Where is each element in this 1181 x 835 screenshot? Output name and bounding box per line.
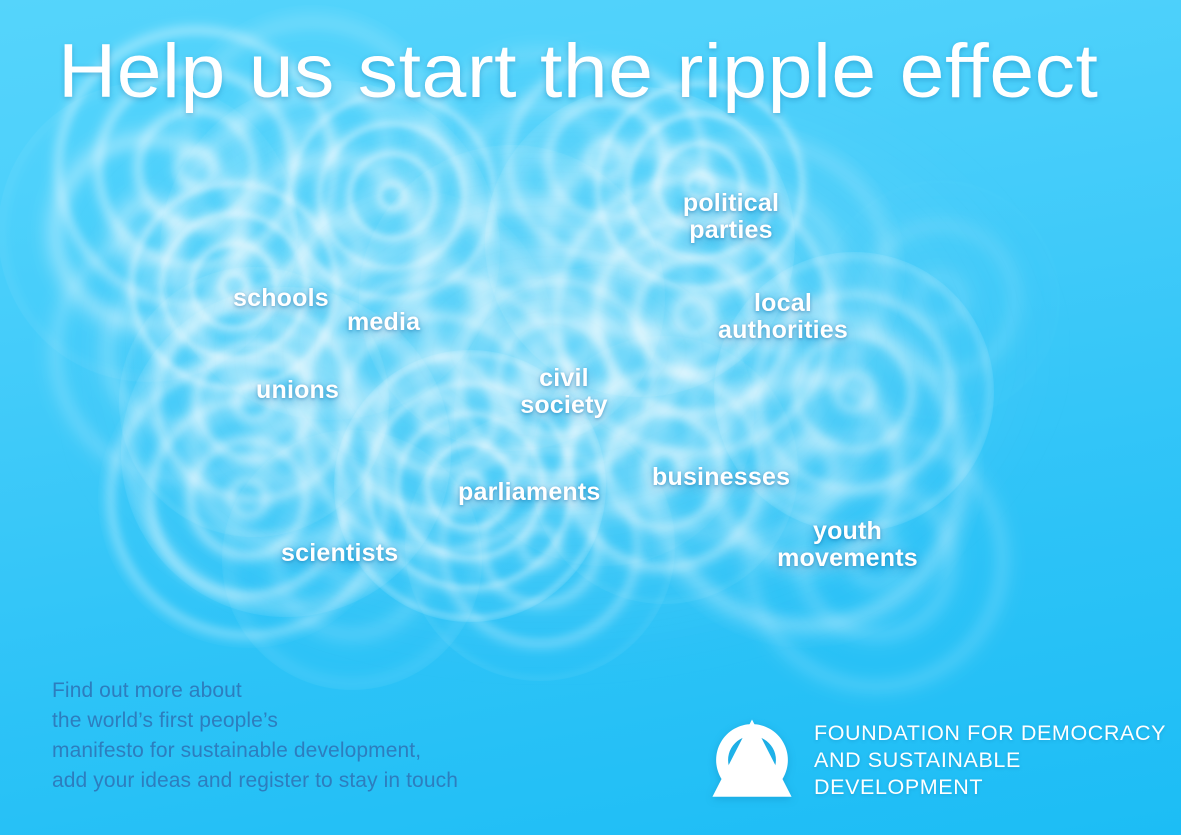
page-title: Help us start the ripple effect	[58, 26, 1181, 118]
stakeholder-label: political parties	[663, 190, 799, 244]
stakeholder-label: media	[347, 309, 437, 336]
stakeholder-label: schools	[233, 285, 343, 312]
ripple-ring	[619, 125, 905, 411]
ripple-ring	[32, 202, 332, 502]
stakeholder-label: businesses	[652, 464, 799, 491]
stakeholder-label: unions	[256, 377, 351, 404]
poster-canvas: Help us start the ripple effect politica…	[0, 0, 1181, 835]
ripple-ring	[359, 145, 665, 451]
ripple-ring	[121, 287, 451, 617]
triangle-in-circle-icon	[706, 714, 798, 806]
logo-wordmark: FOUNDATION FOR DEMOCRACY AND SUSTAINABLE…	[814, 720, 1181, 801]
stakeholder-label: scientists	[281, 540, 416, 567]
ripple-ring	[98, 348, 398, 648]
stakeholder-label: youth movements	[769, 518, 926, 572]
fdsd-logo: FOUNDATION FOR DEMOCRACY AND SUSTAINABLE…	[706, 714, 1181, 806]
call-to-action-text: Find out more about the world’s first pe…	[52, 676, 458, 796]
stakeholder-label: parliaments	[458, 479, 620, 506]
ripple-ring	[160, 80, 500, 420]
stakeholder-label: local authorities	[709, 290, 857, 344]
ripple-ring	[0, 82, 298, 382]
ripple-ring	[405, 411, 675, 681]
stakeholder-label: civil society	[513, 365, 615, 419]
